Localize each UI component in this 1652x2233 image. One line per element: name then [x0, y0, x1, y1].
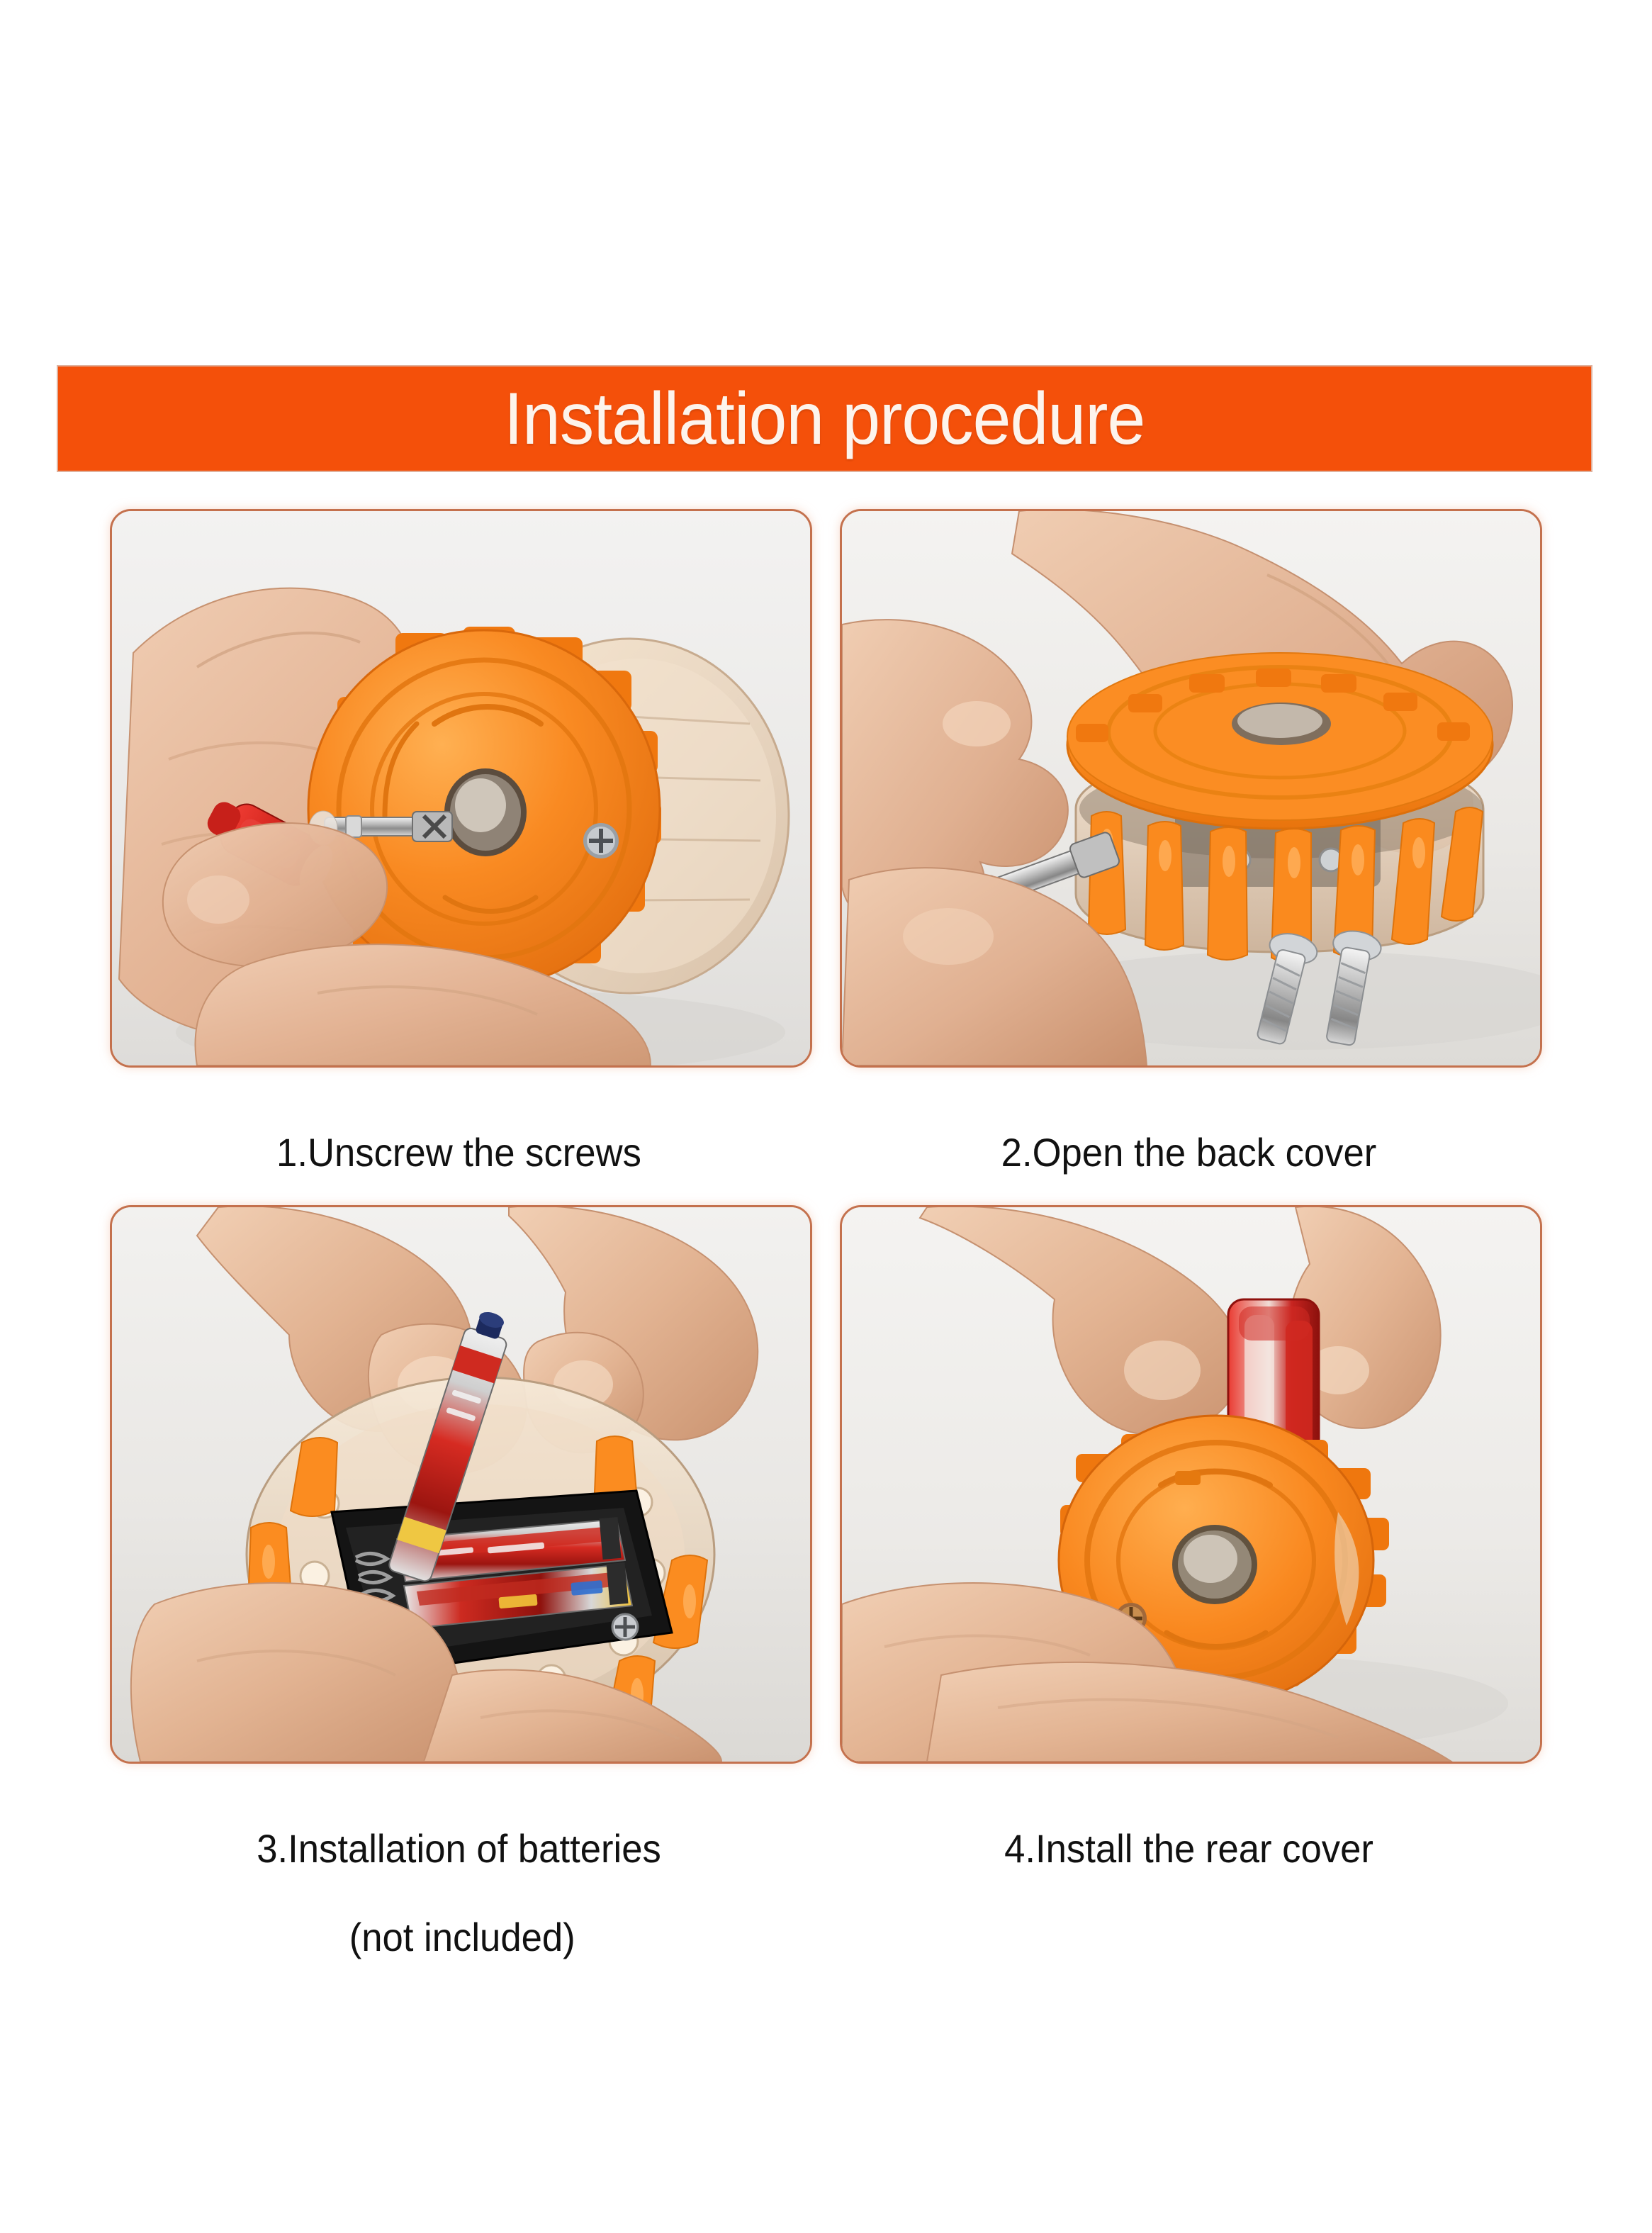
step-3-illustration [112, 1207, 810, 1762]
back-cover-2 [1067, 653, 1493, 829]
step-photo-3 [110, 1205, 812, 1764]
step-caption-3-line1: 3.Installation of batteries [131, 1827, 787, 1871]
step-photo-1 [110, 509, 812, 1068]
step-card-1: 1.Unscrew the screws [110, 509, 812, 1175]
step-caption-2-line1: 2.Open the back cover [1001, 1130, 1377, 1175]
step-caption-1: 1.Unscrew the screws [131, 1086, 787, 1175]
step-card-2: 2.Open the back cover [840, 509, 1542, 1175]
step-caption-2: 2.Open the back cover [861, 1086, 1517, 1175]
step-card-4: 4.Install the rear cover [840, 1205, 1542, 1871]
step-1-illustration [112, 511, 810, 1065]
step-2-illustration [842, 511, 1540, 1065]
step-caption-4: 4.Install the rear cover [861, 1782, 1517, 1871]
step-card-3: 3.Installation of batteries (not include… [110, 1205, 812, 2005]
steps-grid: 1.Unscrew the screws [0, 0, 1652, 2233]
step-photo-2 [840, 509, 1542, 1068]
step-4-illustration [842, 1207, 1540, 1762]
step-caption-3-line2: (not included) [131, 1915, 787, 1960]
step-photo-4 [840, 1205, 1542, 1764]
step-caption-1-line1: 1.Unscrew the screws [276, 1130, 641, 1175]
step-caption-4-line1: 4.Install the rear cover [1004, 1826, 1373, 1871]
installation-procedure-page: Installation procedure [0, 0, 1652, 2233]
step-caption-3: 3.Installation of batteries (not include… [131, 1782, 787, 2005]
screw-head-1 [583, 823, 619, 858]
